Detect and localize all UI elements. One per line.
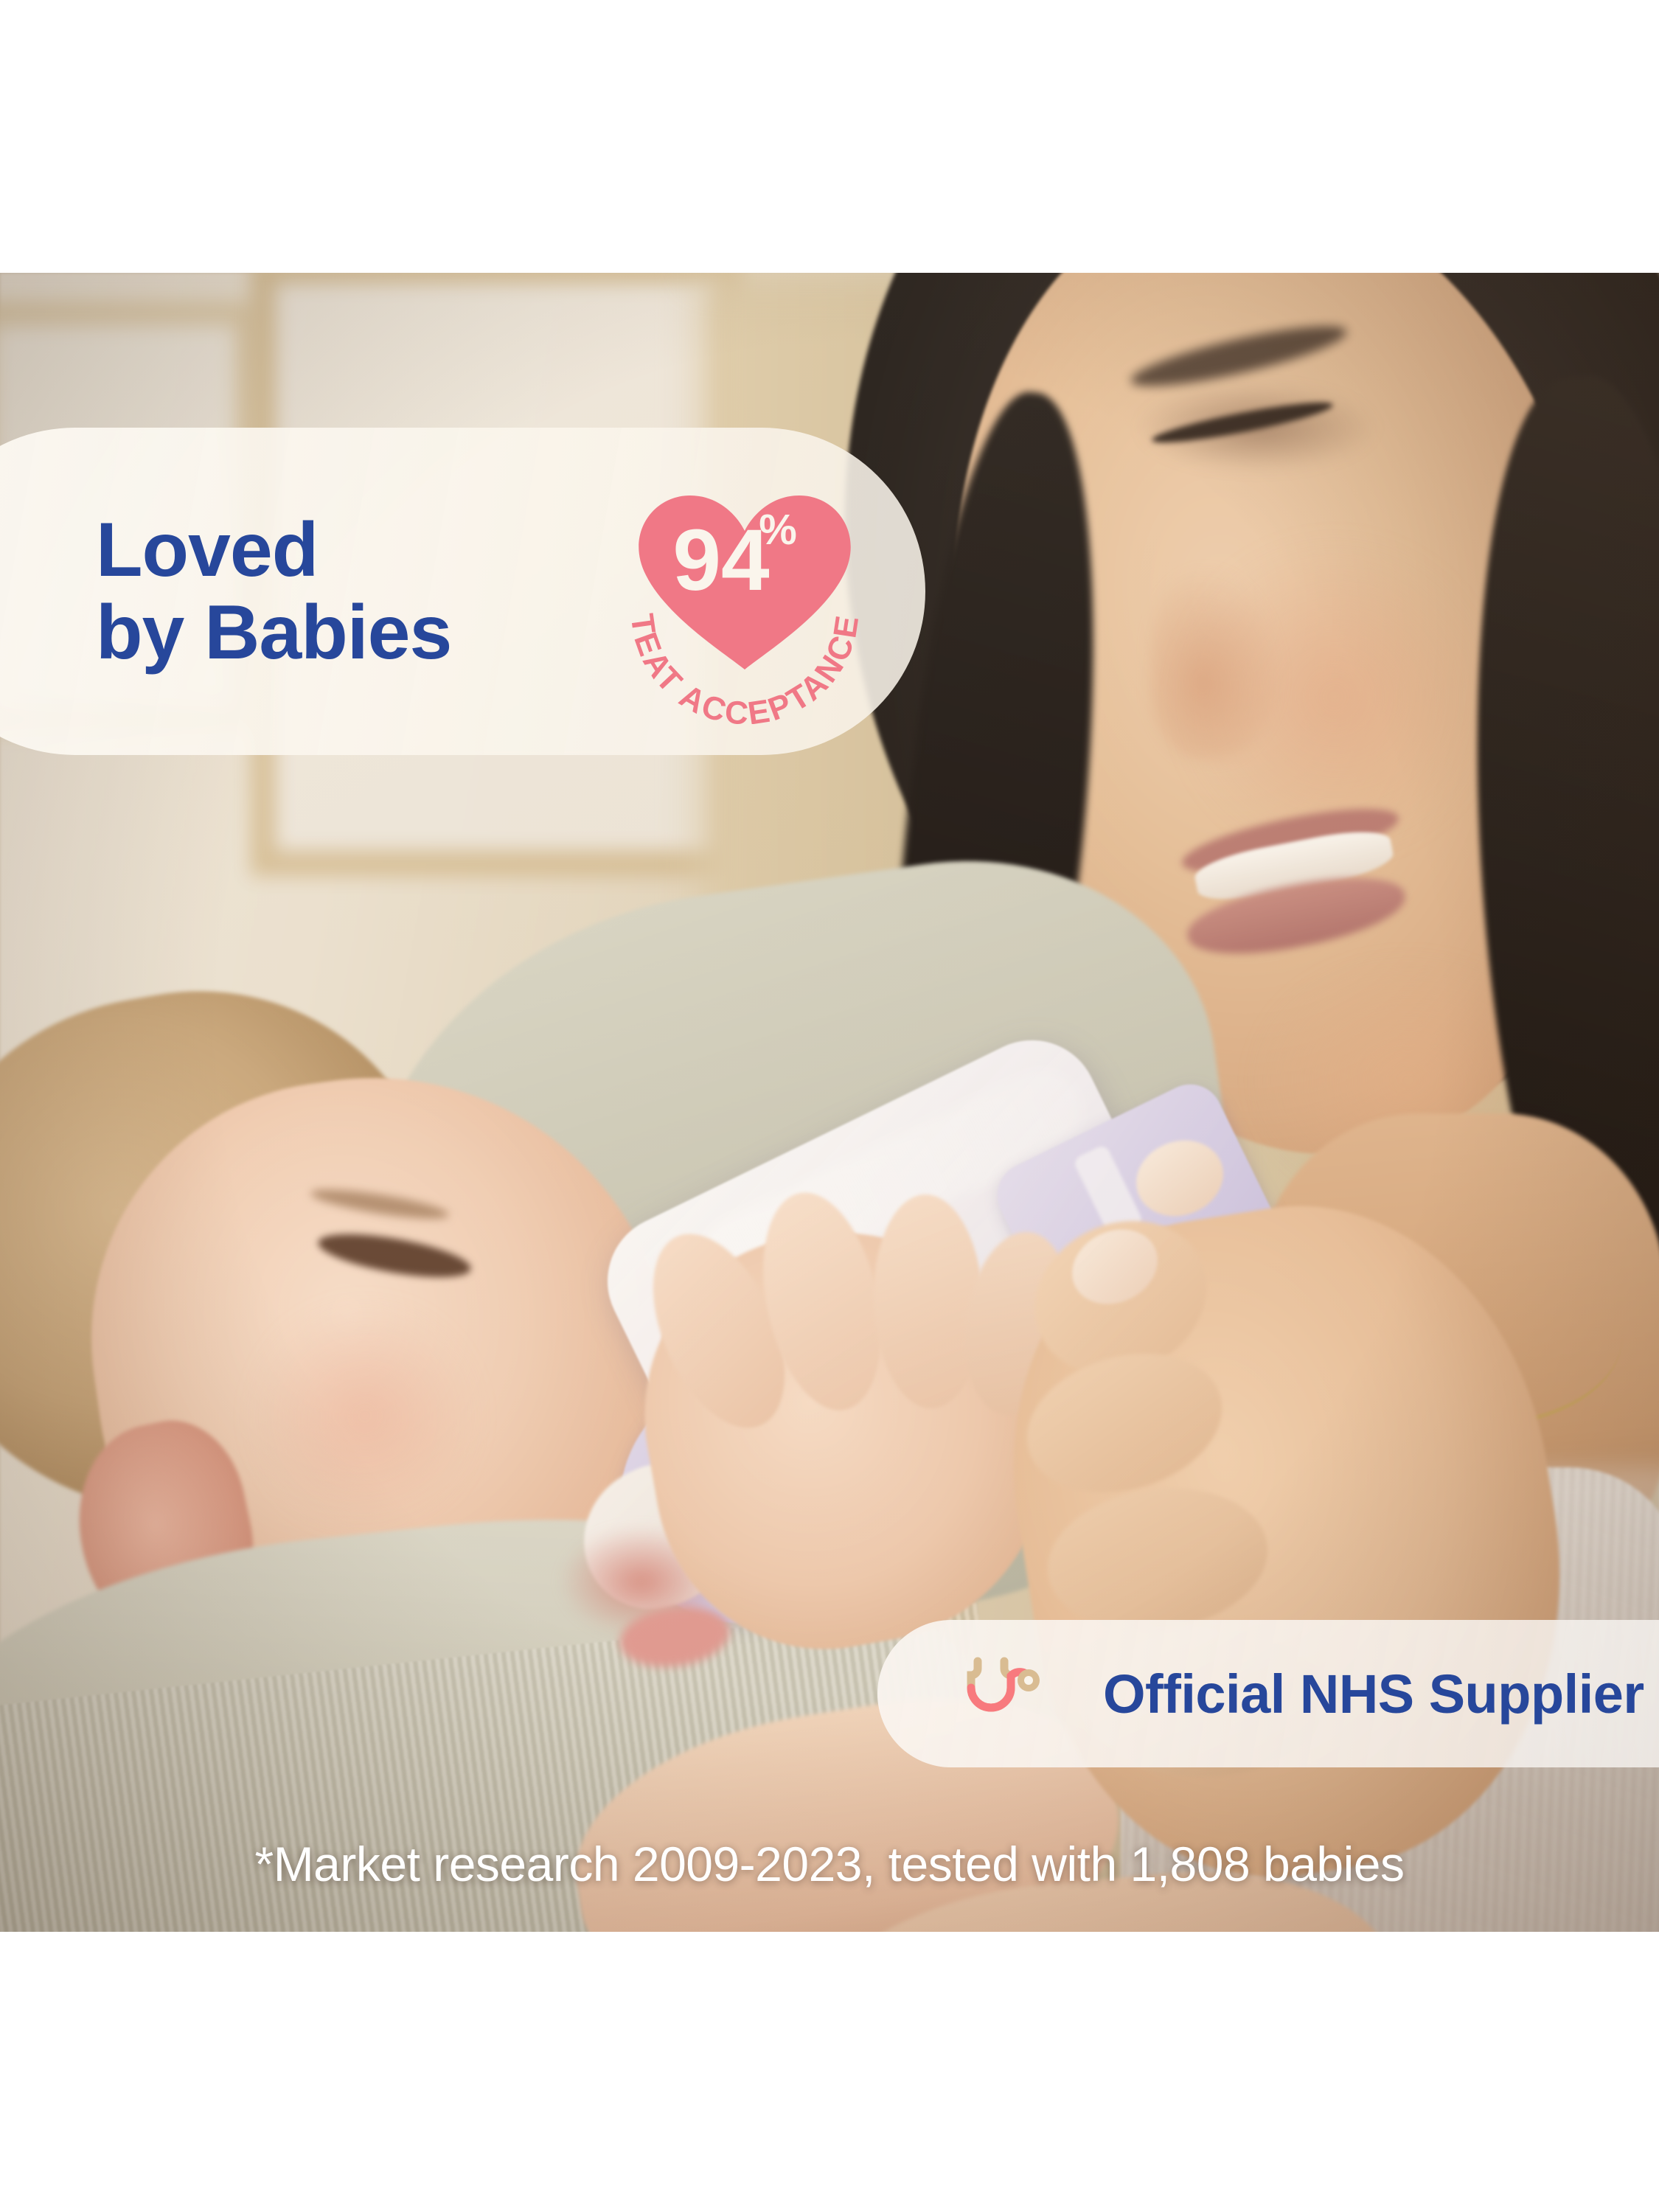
stethoscope-chestpiece-diaphragm xyxy=(1024,1676,1033,1685)
loved-headline-line-2: by Babies xyxy=(96,591,451,674)
loved-headline-line-1: Loved xyxy=(96,509,451,591)
product-marketing-image: Loved by Babies 94 % TEAT ACCEPTANCE Off… xyxy=(0,0,1659,2212)
stethoscope-icon xyxy=(959,1649,1047,1738)
nhs-supplier-label: Official NHS Supplier xyxy=(1103,1663,1644,1725)
teat-acceptance-stat-badge: 94 % TEAT ACCEPTANCE xyxy=(612,481,877,724)
stat-unit: % xyxy=(759,506,797,554)
stethoscope-tubing-lower xyxy=(971,1682,1011,1708)
heart-icon: 94 % TEAT ACCEPTANCE xyxy=(612,481,877,724)
loved-by-babies-text: Loved by Babies xyxy=(96,509,451,675)
stat-value: 94 xyxy=(672,512,769,609)
research-footnote: *Market research 2009-2023, tested with … xyxy=(0,1836,1659,1892)
official-nhs-supplier-badge: Official NHS Supplier xyxy=(877,1620,1659,1767)
